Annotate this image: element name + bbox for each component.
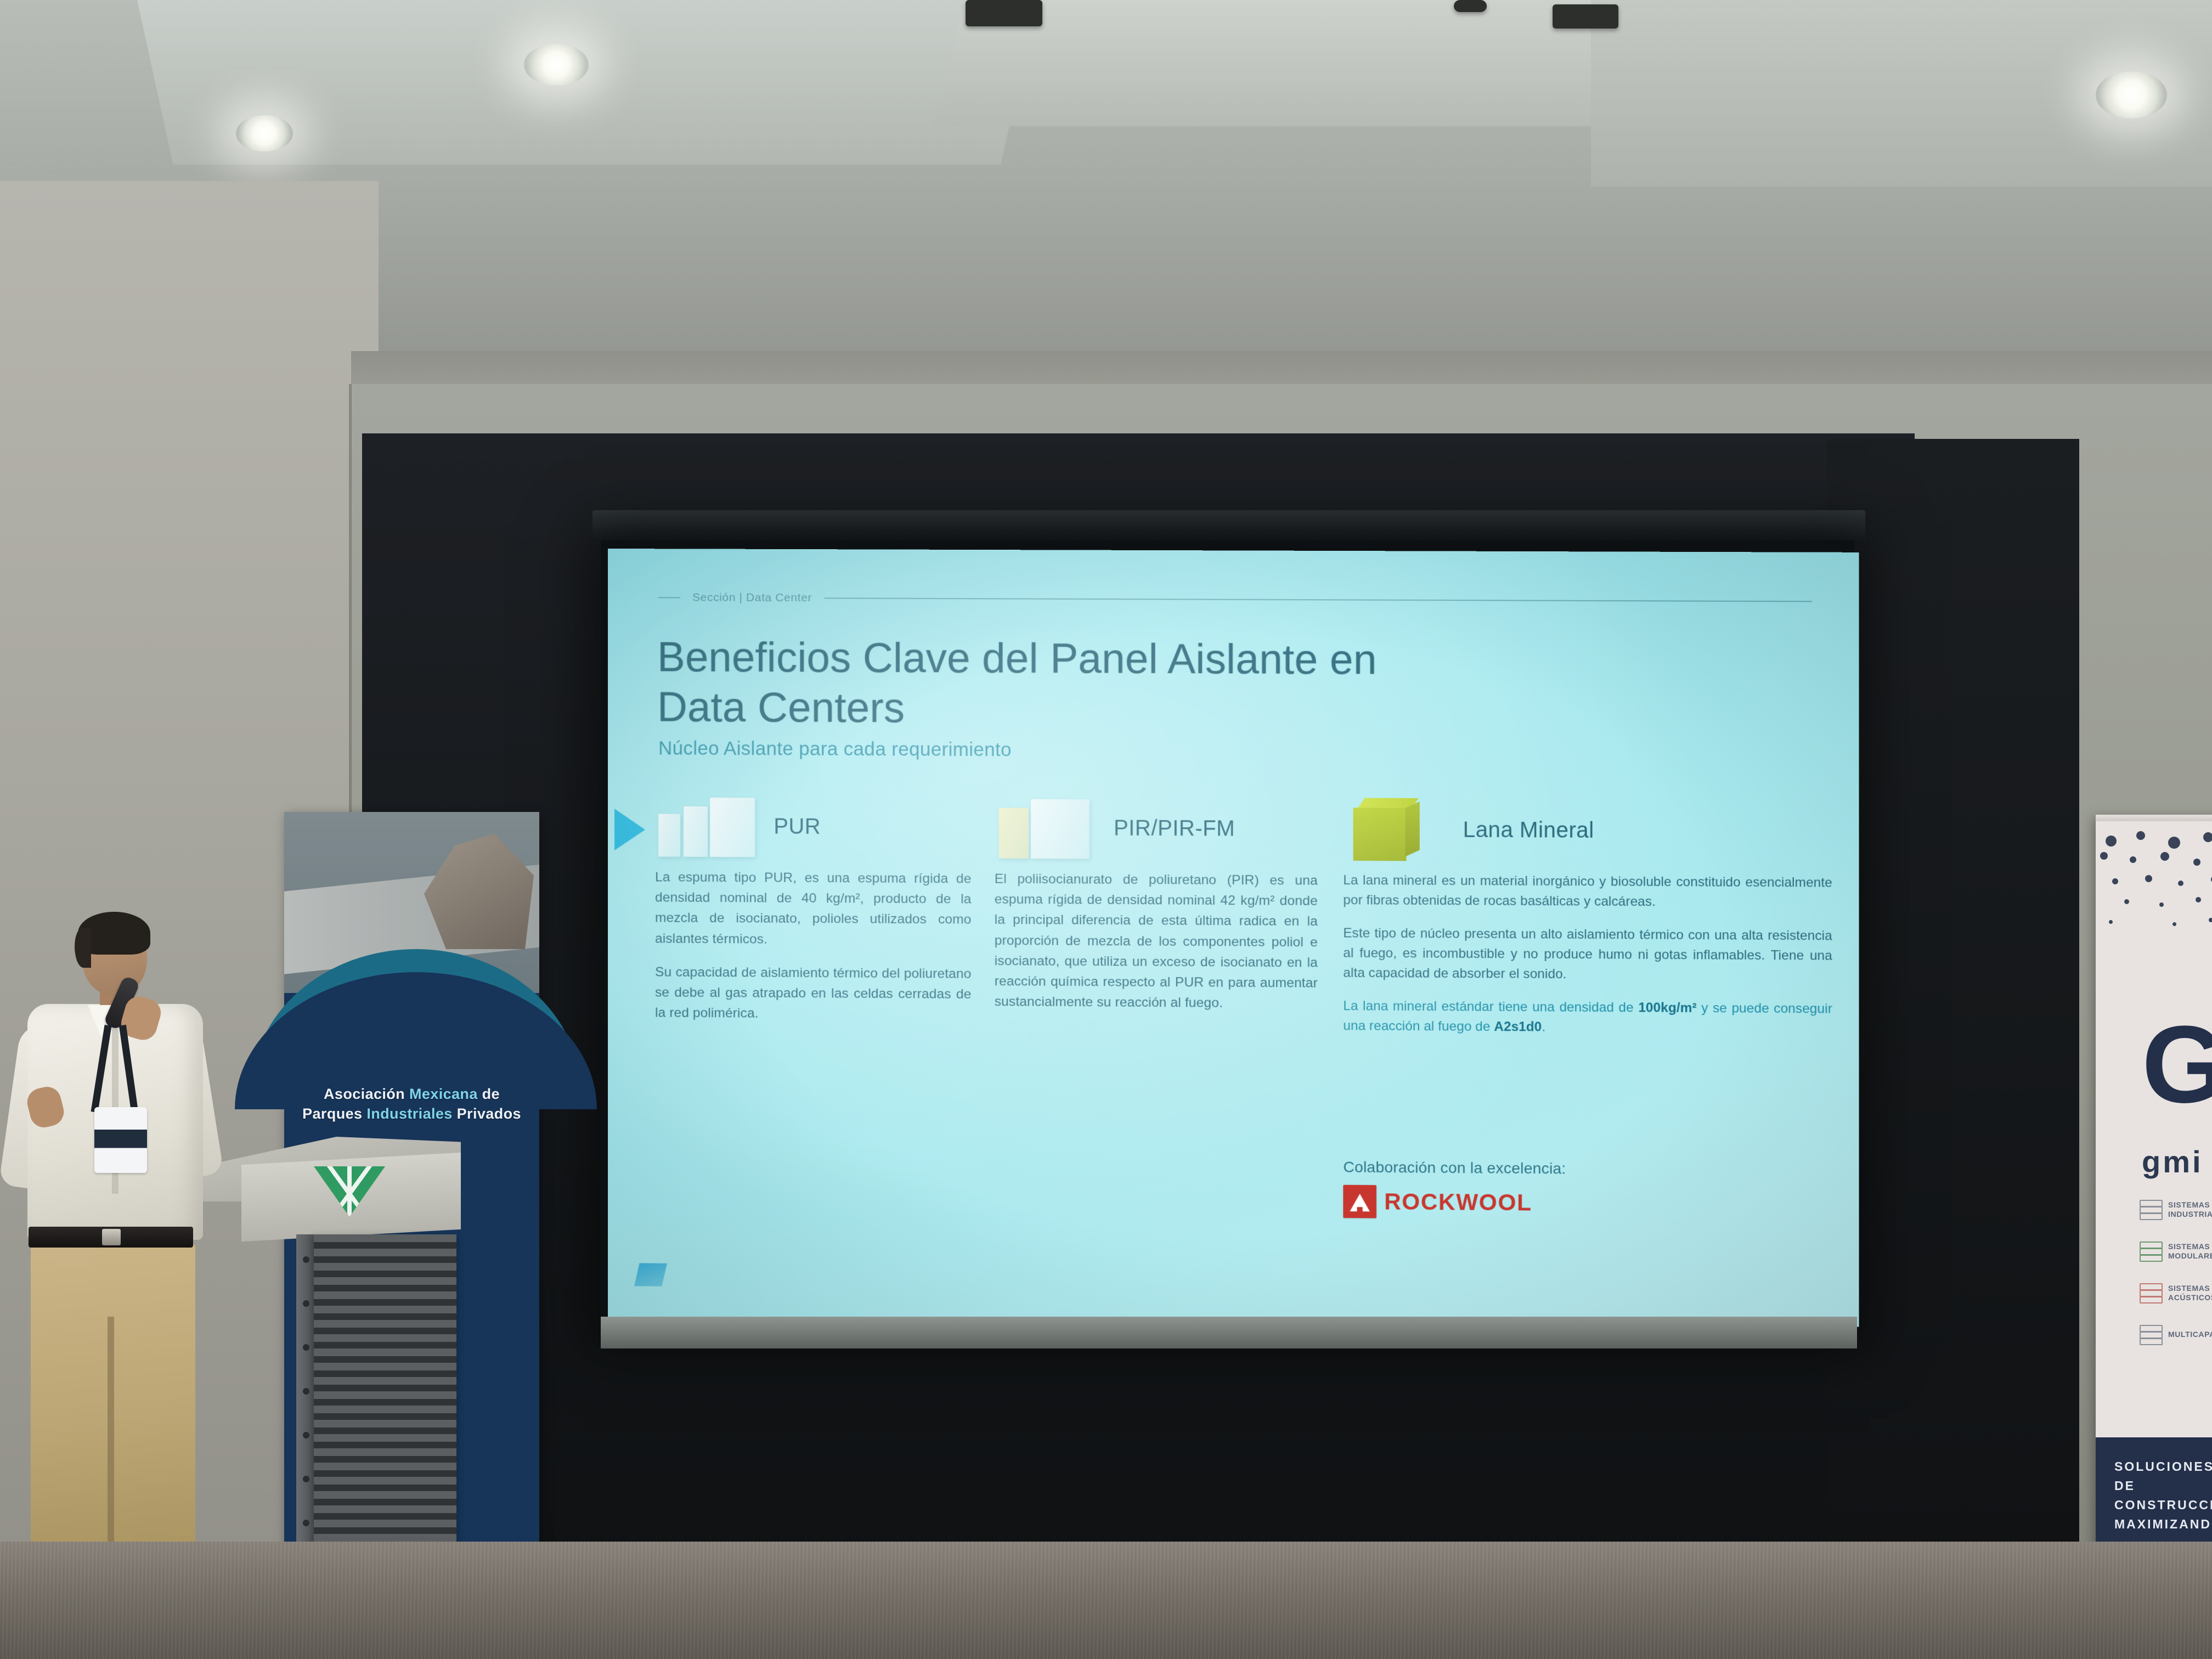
insulation-panel-slabs-yellow-icon [995,794,1097,861]
podium-logo-icon [314,1166,385,1217]
highlight-suffix: . [1542,1019,1545,1034]
rockwool-mark-icon [1343,1185,1376,1218]
collaboration-block: Colaboración con la excelencia: ROCKWOOL [1343,1158,1566,1220]
column-paragraph: La espuma tipo PUR, es una espuma rígida… [655,867,971,950]
banner-gmi-logo: G [2142,1010,2212,1120]
column-paragraph: El poliisocianurato de poliuretano (PIR)… [995,869,1318,1014]
layered-panel-icon [2140,1199,2163,1221]
podium-side-rail [296,1234,316,1591]
screen-bottom-bar [601,1317,1857,1348]
banner-top-rail [2096,815,2212,821]
ceiling-projector-mount [966,0,1042,26]
accent-arrow-icon [614,809,645,850]
presenter-belt-buckle [102,1229,121,1245]
slide-header: Sección | Data Center [658,590,1812,608]
panel-slab [684,806,708,857]
panel-slab [710,798,755,857]
column-header: Lana Mineral [1343,788,1832,873]
column-pur: PUR La espuma tipo PUR, es una espuma rí… [655,785,971,1047]
ampip-line1-a: Asociación [324,1086,409,1102]
stage-backdrop-right [1827,439,2079,1569]
list-item-label: MULTICAPA [2168,1330,2212,1340]
banner-ampip-text: Asociación Mexicana deParques Industrial… [284,1084,539,1124]
ampip-line1-c: de [478,1086,500,1102]
list-item: MULTICAPA [2140,1324,2212,1346]
presenter-sideburn [75,928,91,968]
floor-carpet [0,1542,2212,1659]
rockwool-wordmark: ROCKWOOL [1384,1188,1532,1216]
ceiling-smoke-detector [1454,0,1487,12]
highlight-density-value: 100kg/m² [1638,1000,1696,1015]
cube-side-face [1405,802,1419,857]
column-highlight-paragraph: La lana mineral estándar tiene una densi… [1343,996,1832,1039]
panel-slab [999,808,1029,859]
banner-gmi-wordmark: gmi [2142,1144,2203,1180]
column-header: PUR [655,785,971,868]
list-item: SISTEMAS MODULARES [2140,1240,2212,1262]
podium-column [314,1234,456,1585]
slide-canvas: Sección | Data Center Beneficios Clave d… [608,549,1859,1327]
column-paragraph: Este tipo de núcleo presenta un alto ais… [1343,923,1832,986]
insulation-panel-slabs-white-icon [655,793,757,859]
ceiling-speaker [1553,4,1618,29]
collaboration-label: Colaboración con la excelencia: [1343,1158,1566,1177]
column-label-lana-mineral: Lana Mineral [1463,817,1594,843]
footer-line: MAXIMIZANDO [2114,1515,2212,1534]
list-item-label: SISTEMAS ACÚSTICOS [2168,1284,2212,1303]
list-item-label: SISTEMAS MODULARES [2168,1242,2212,1261]
ampip-line2-c: Privados [453,1105,521,1122]
column-lana-mineral: Lana Mineral La lana mineral es un mater… [1318,788,1832,1052]
list-item: SISTEMAS INDUSTRIALES [2140,1199,2212,1221]
slide-title: Beneficios Clave del Panel Aislante en D… [657,632,1430,735]
column-paragraph: La lana mineral es un material inorgánic… [1343,871,1832,913]
mineral-wool-cube-icon [1343,793,1446,866]
list-item: SISTEMAS ACÚSTICOS [2140,1282,2212,1304]
highlight-fire-rating-value: A2s1d0 [1494,1019,1542,1035]
ampip-line2-a: Parques [302,1105,366,1122]
header-rule-right [824,597,1812,602]
acoustic-panel-icon [2140,1282,2163,1304]
highlight-prefix: La lana mineral estándar tiene una densi… [1343,998,1638,1015]
header-rule-left [658,597,680,598]
presenter-name-badge [94,1107,147,1173]
ceiling-downlight [236,115,293,151]
footer-line: SOLUCIONES [2114,1457,2212,1476]
banner-gmi-footer: SOLUCIONES DE CONSTRUCCIÓN MAXIMIZANDO [2096,1437,2212,1553]
banner-dot-pattern [2096,828,2212,1009]
conference-room-scene: Sección | Data Center Beneficios Clave d… [0,0,2212,1659]
ampip-line1-highlight: Mexicana [409,1086,478,1102]
material-columns: PUR La espuma tipo PUR, es una espuma rí… [655,785,1837,1052]
column-pir: PIR/PIR-FM El poliisocianurato de poliur… [971,786,1317,1049]
banner-feature-list: SISTEMAS INDUSTRIALES SISTEMAS MODULARES… [2140,1199,2212,1365]
slide-subtitle: Núcleo Aislante para cada requerimiento [658,737,1012,761]
screen-valance [592,510,1865,542]
slide-corner-logo-icon [634,1263,667,1286]
rockwool-logo: ROCKWOOL [1343,1185,1566,1220]
modular-panel-icon [2140,1240,2163,1262]
banner-gmi: G gmi SISTEMAS INDUSTRIALES SISTEMAS MOD… [2096,815,2212,1553]
slide-breadcrumb: Sección | Data Center [692,591,812,605]
multilayer-panel-icon [2140,1324,2163,1346]
column-header: PIR/PIR-FM [995,786,1318,870]
column-label-pir: PIR/PIR-FM [1114,816,1235,841]
projection-screen: Sección | Data Center Beneficios Clave d… [608,549,1859,1327]
panel-slab [1031,799,1090,859]
column-paragraph: Su capacidad de aislamiento térmico del … [655,962,971,1025]
list-item-label: SISTEMAS INDUSTRIALES [2168,1200,2212,1220]
footer-line: DE CONSTRUCCIÓN [2114,1476,2212,1515]
banner-photo-rock [424,834,534,949]
presenter-trouser-seam [108,1317,114,1572]
podium-logo-glyph [314,1166,385,1217]
ceiling-downlight [524,44,589,86]
presenter [5,900,236,1629]
column-label-pur: PUR [774,814,821,839]
ceiling-downlight [2096,71,2167,119]
ampip-line2-highlight: Industriales [366,1105,452,1122]
panel-slab [658,814,680,856]
cube-front-face [1353,808,1407,861]
